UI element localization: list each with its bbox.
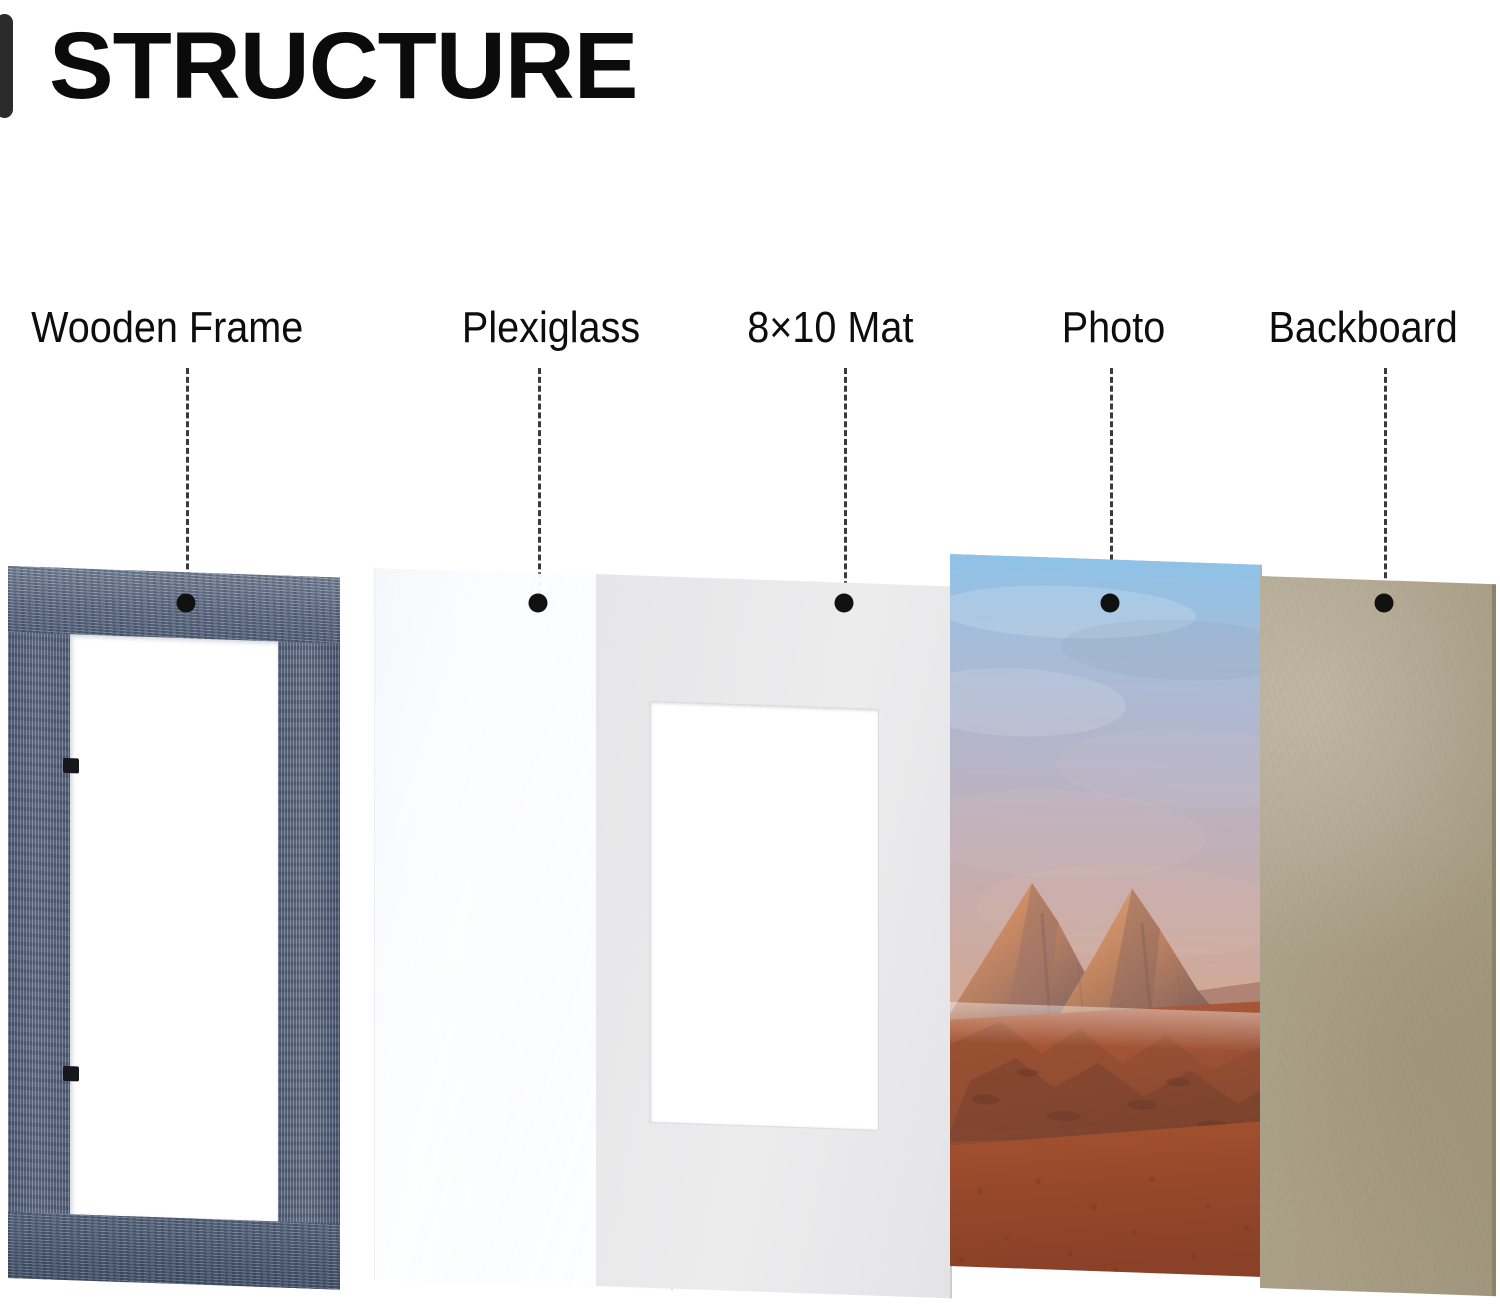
exploded-layer-stack xyxy=(0,0,1500,1307)
frame-rail-right xyxy=(278,575,340,1289)
frame-rail-bottom xyxy=(8,1212,340,1290)
frame-hardware-tab xyxy=(63,758,79,774)
leader-dot-plexiglass xyxy=(529,594,548,613)
callout-label-backboard: Backboard xyxy=(1269,306,1458,350)
leader-line-wooden-frame xyxy=(186,368,189,596)
callout-label-wooden-frame: Wooden Frame xyxy=(31,306,303,350)
infographic-canvas: STRUCTURE xyxy=(0,0,1500,1307)
leader-dot-backboard xyxy=(1375,594,1394,613)
leader-dot-wooden-frame xyxy=(177,594,196,613)
leader-dot-mat xyxy=(835,594,854,613)
leader-line-mat xyxy=(844,368,847,596)
callout-label-mat: 8×10 Mat xyxy=(747,306,913,350)
leader-line-plexiglass xyxy=(538,368,541,596)
frame-hardware-tab xyxy=(63,1066,79,1082)
photo-image xyxy=(950,554,1262,1277)
leader-line-backboard xyxy=(1384,368,1387,596)
mat-window-cutout xyxy=(650,702,878,1130)
layer-wooden-frame xyxy=(8,566,340,1290)
layer-backboard xyxy=(1260,576,1496,1296)
frame-opening xyxy=(70,634,278,1221)
backboard-grain-texture xyxy=(1260,576,1492,1296)
layer-mat xyxy=(596,574,952,1298)
frame-rail-top xyxy=(8,566,340,644)
callout-label-photo: Photo xyxy=(1062,306,1165,350)
frame-rail-left xyxy=(8,566,70,1280)
callout-label-plexiglass: Plexiglass xyxy=(462,306,640,350)
layer-photo xyxy=(950,554,1262,1277)
leader-dot-photo xyxy=(1101,594,1120,613)
